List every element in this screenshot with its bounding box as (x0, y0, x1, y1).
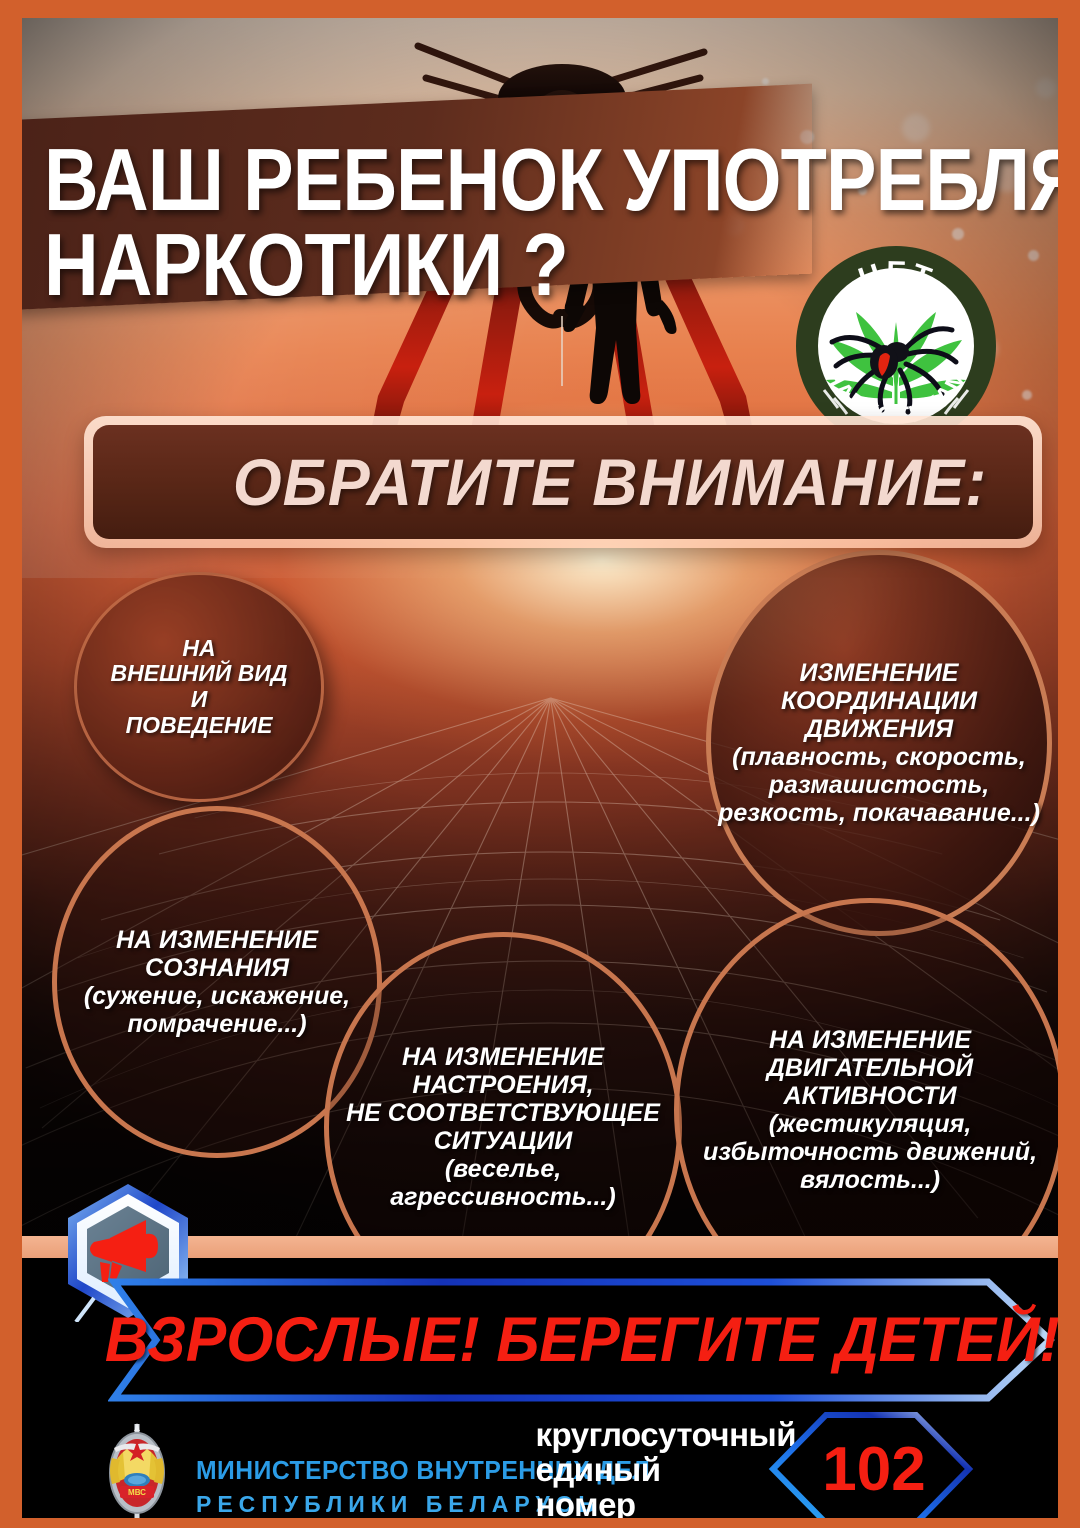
circle-line: НАСТРОЕНИЯ, (335, 1071, 671, 1099)
circle-line: И (111, 687, 288, 713)
circle-line: СИТУАЦИИ (335, 1127, 671, 1155)
circle-line: КООРДИНАЦИИ (718, 687, 1040, 715)
circle-appearance-behaviour: НА ВНЕШНИЙ ВИД И ПОВЕДЕНИЕ (74, 572, 324, 802)
svg-text:МВС: МВС (128, 1488, 146, 1497)
attention-bar-inner: ОБРАТИТЕ ВНИМАНИЕ: (93, 425, 1033, 539)
hotline-number-hex: 102 (768, 1410, 974, 1518)
circle-line: НА ИЗМЕНЕНИЕ (335, 1043, 671, 1071)
circle-line: размашистость, (718, 771, 1040, 799)
headline-line-1: ВАШ РЕБЕНОК УПОТРЕБЛЯЕТ (44, 140, 913, 219)
circle-line: (плавность, скорость, (718, 743, 1040, 771)
circle-movement-coordination: ИЗМЕНЕНИЕ КООРДИНАЦИИ ДВИЖЕНИЯ (плавност… (706, 550, 1052, 936)
circle-text: ИЗМЕНЕНИЕ КООРДИНАЦИИ ДВИЖЕНИЯ (плавност… (712, 659, 1046, 827)
circle-line: помрачение...) (84, 1010, 350, 1038)
hotline-word-3: номер (536, 1488, 797, 1519)
bokeh-particle (1022, 390, 1032, 400)
slogan-text: ВЗРОСЛЫЕ! БЕРЕГИТЕ ДЕТЕЙ! (105, 1304, 1058, 1376)
circle-line: НА (111, 636, 288, 662)
circle-text: НА ИЗМЕНЕНИЕ СОЗНАНИЯ (сужение, искажени… (78, 926, 356, 1038)
circle-line: вялость...) (685, 1166, 1055, 1194)
circle-line: ДВИЖЕНИЯ (718, 715, 1040, 743)
hotline-words: круглосуточный единый номер (536, 1418, 797, 1519)
attention-bar: ОБРАТИТЕ ВНИМАНИЕ: (84, 416, 1042, 548)
hotline-number: 102 (768, 1410, 974, 1518)
poster-inner-frame: ВАШ РЕБЕНОК УПОТРЕБЛЯЕТ НАРКОТИКИ ? (22, 18, 1058, 1518)
circle-line: СОЗНАНИЯ (84, 954, 350, 982)
hotline-word-1: круглосуточный (536, 1418, 797, 1451)
circle-line: ПОВЕДЕНИЕ (111, 713, 288, 739)
attention-label: ОБРАТИТЕ ВНИМАНИЕ: (233, 444, 987, 520)
bokeh-particle (1036, 78, 1056, 98)
circle-text: НА ВНЕШНИЙ ВИД И ПОВЕДЕНИЕ (105, 636, 294, 739)
circle-line: (жестикуляция, (685, 1110, 1055, 1138)
circle-line: ВНЕШНИЙ ВИД (111, 661, 288, 687)
hotline-block: круглосуточный единый номер (536, 1410, 975, 1518)
circle-line: НА ИЗМЕНЕНИЕ (685, 1026, 1055, 1054)
poster-root: ВАШ РЕБЕНОК УПОТРЕБЛЯЕТ НАРКОТИКИ ? (0, 0, 1080, 1528)
circle-line: (веселье, агрессивность...) (335, 1155, 671, 1211)
circle-line: ДВИГАТЕЛЬНОЙ АКТИВНОСТИ (685, 1054, 1055, 1110)
circle-line: ИЗМЕНЕНИЕ (718, 659, 1040, 687)
slogan-text-wrap: ВЗРОСЛЫЕ! БЕРЕГИТЕ ДЕТЕЙ! (108, 1276, 1056, 1404)
belarus-mvd-emblem: МВС (100, 1422, 174, 1518)
circle-text: НА ИЗМЕНЕНИЕ НАСТРОЕНИЯ, НЕ СООТВЕТСТВУЮ… (329, 1043, 677, 1211)
circle-line: резкость, покачавание...) (718, 799, 1040, 827)
circle-line: НА ИЗМЕНЕНИЕ (84, 926, 350, 954)
circle-line: (сужение, искажение, (84, 982, 350, 1010)
circle-text: НА ИЗМЕНЕНИЕ ДВИГАТЕЛЬНОЙ АКТИВНОСТИ (же… (679, 1026, 1058, 1194)
circle-line: НЕ СООТВЕТСТВУЮЩЕЕ (335, 1099, 671, 1127)
hotline-word-2: единый (536, 1453, 797, 1486)
headline-line-2: НАРКОТИКИ ? (44, 225, 913, 304)
circle-line: избыточность движений, (685, 1138, 1055, 1166)
